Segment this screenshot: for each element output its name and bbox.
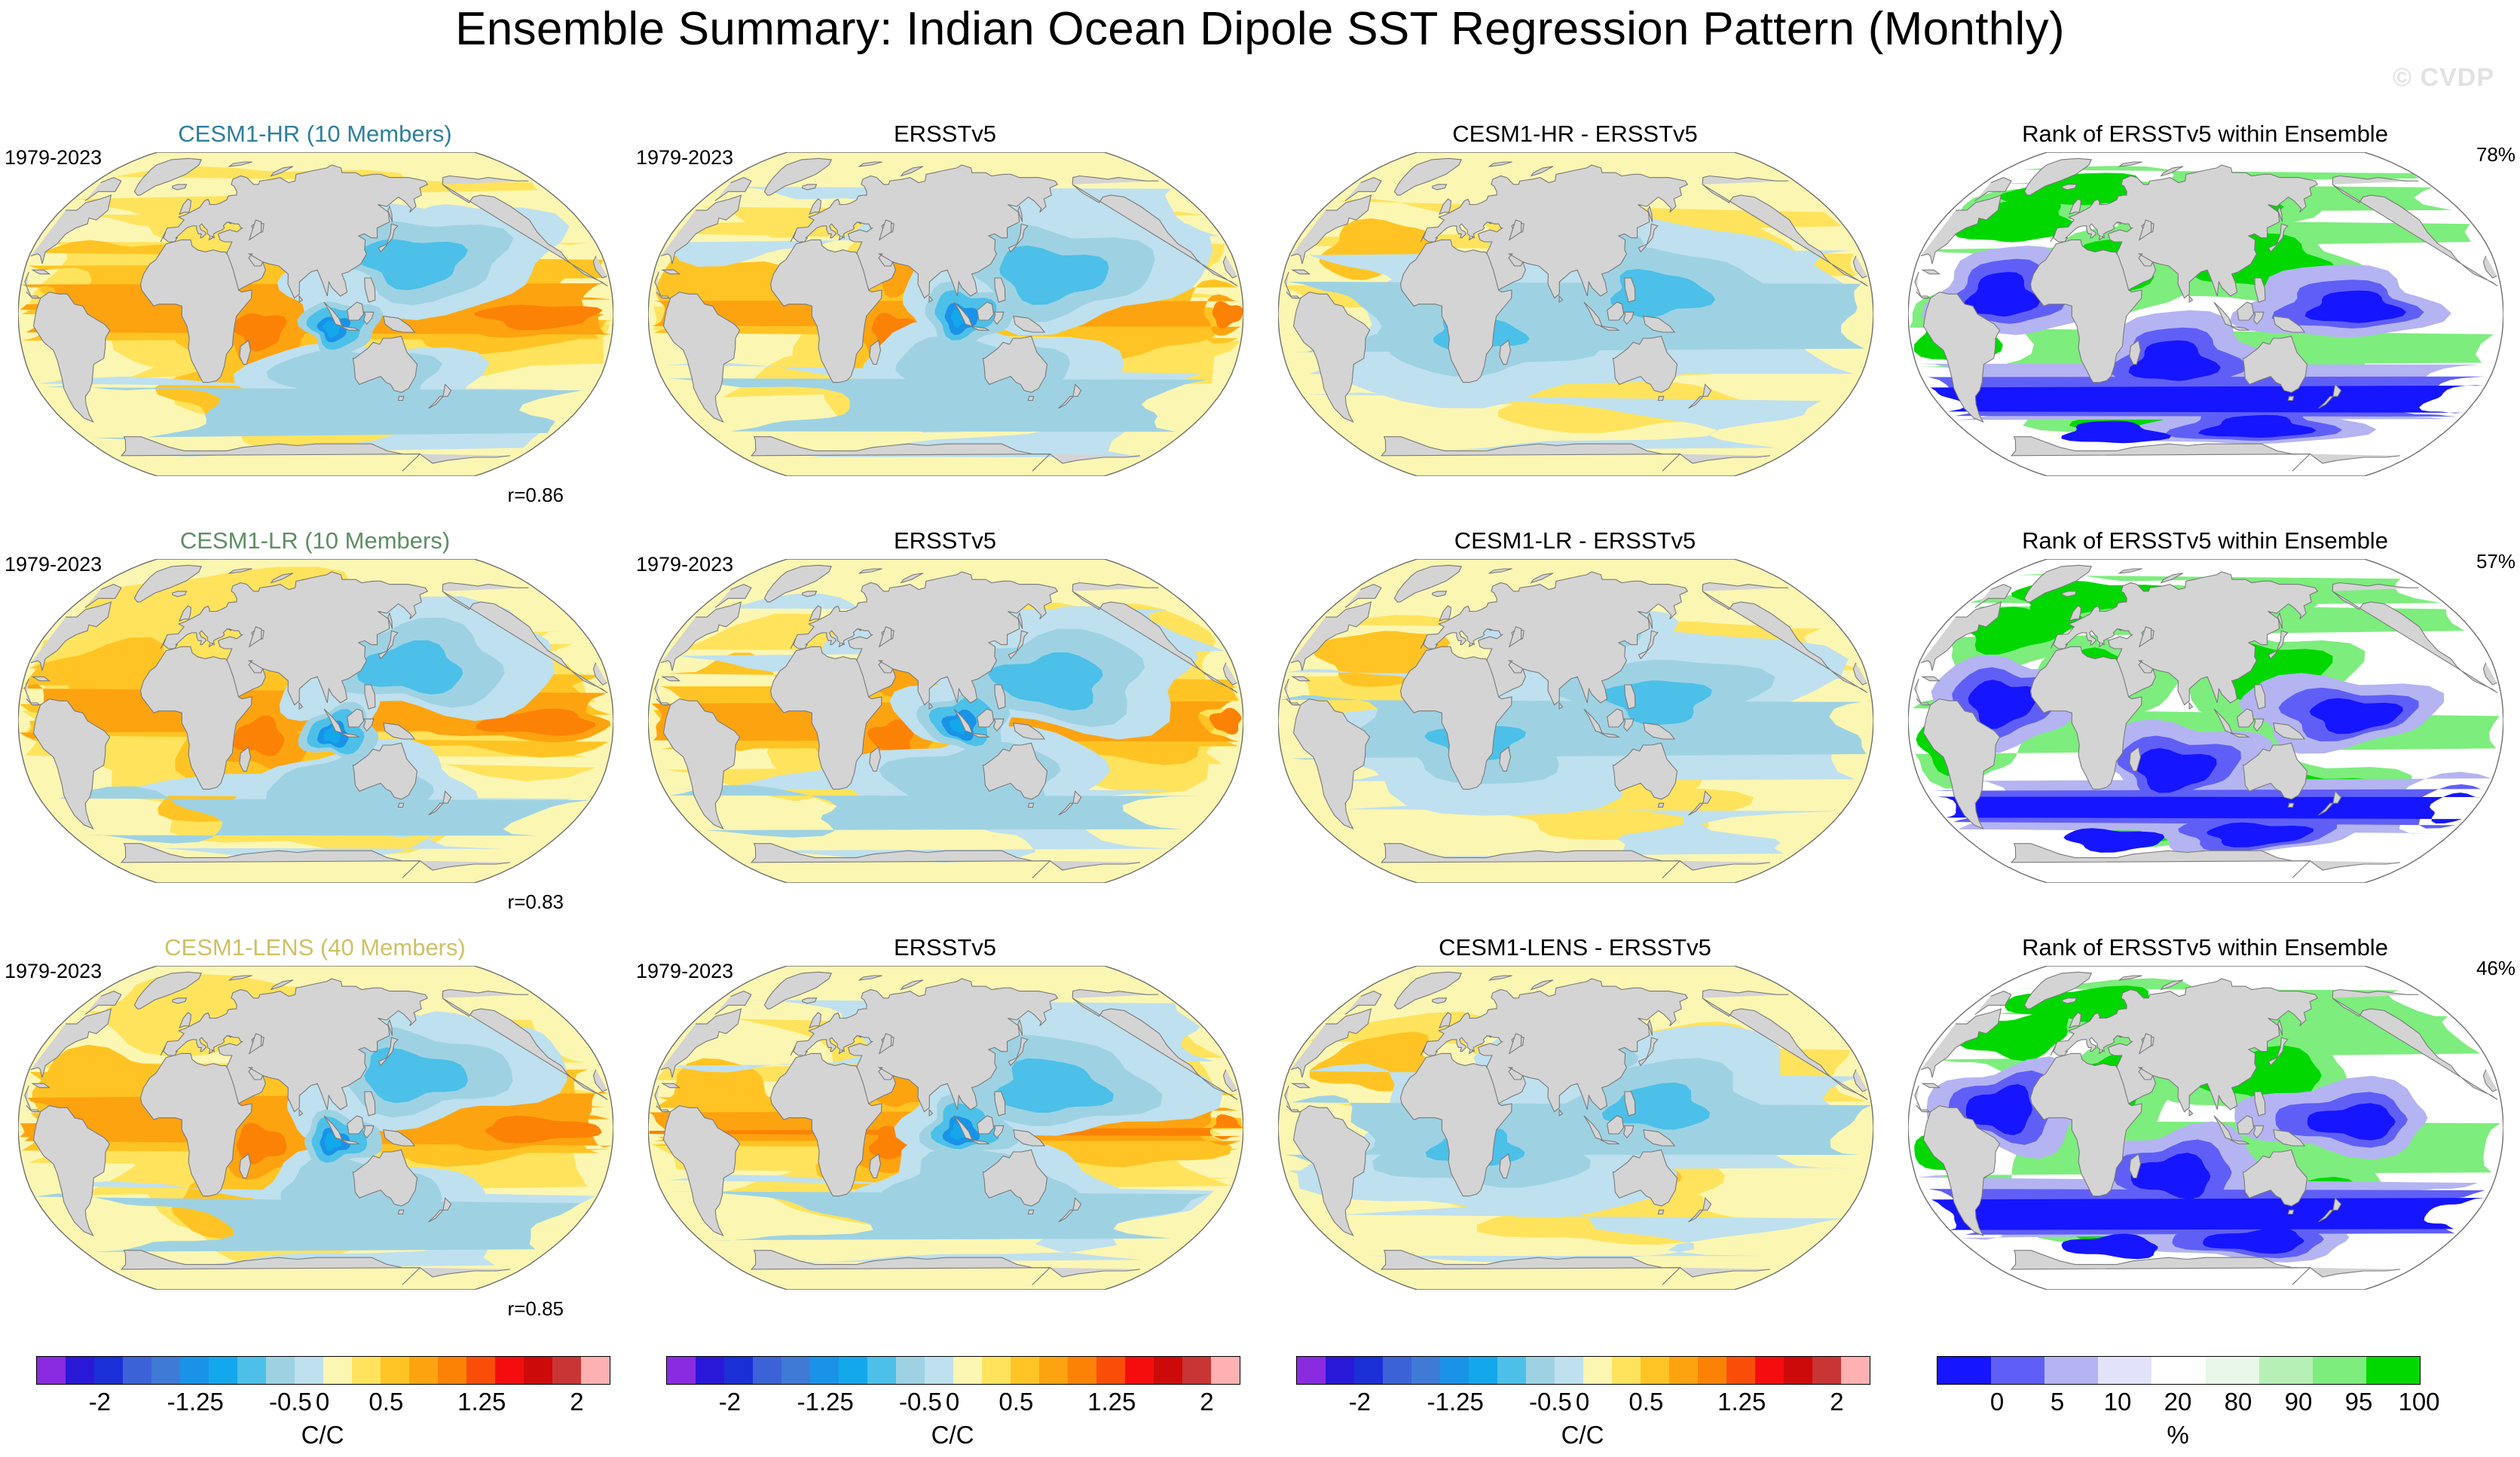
colorbar-swatch-0 (1937, 1357, 1991, 1384)
colorbar-tick: -0.5 (269, 1388, 312, 1416)
colorbar-swatch-11 (982, 1357, 1011, 1384)
sst-colorbar-3: -2-1.25-0.500.51.252C/C (1296, 1356, 1869, 1446)
colorbar-tick: 2 (570, 1388, 583, 1416)
colorbar-swatch-12 (381, 1357, 409, 1384)
colorbar-swatch-17 (1154, 1357, 1182, 1384)
map-observations (648, 559, 1243, 883)
panel-title: Rank of ERSSTv5 within Ensemble (1890, 121, 2520, 148)
colorbar-swatch-0 (1297, 1357, 1326, 1384)
colorbar-swatch-3 (1383, 1357, 1411, 1384)
colorbar-swatch-15 (466, 1357, 495, 1384)
colorbar-swatch-4 (2151, 1357, 2205, 1384)
colorbar-swatch-2 (2044, 1357, 2098, 1384)
colorbar-tick: 2 (1200, 1388, 1213, 1416)
colorbar-swatch-18 (1182, 1357, 1211, 1384)
panel-model-row3: CESM1-LENS (40 Members)1979-2023r=0.85 (0, 934, 630, 1311)
colorbar-tick: 0 (946, 1388, 959, 1416)
colorbar-swatch-1 (1326, 1357, 1354, 1384)
panel-title: Rank of ERSSTv5 within Ensemble (1890, 934, 2520, 961)
pattern-correlation-label: r=0.86 (508, 484, 564, 507)
colorbar-tick: 2 (1830, 1388, 1843, 1416)
colorbar-swatch-8 (896, 1357, 925, 1384)
panel-model-row1: CESM1-HR (10 Members)1979-2023r=0.86 (0, 121, 630, 497)
panel-title: CESM1-HR - ERSSTv5 (1260, 121, 1890, 148)
colorbar-swatch-10 (323, 1357, 352, 1384)
colorbar-swatch-5 (810, 1357, 839, 1384)
colorbar-swatch-19 (1841, 1357, 1870, 1384)
colorbar-swatch-7 (237, 1357, 266, 1384)
colorbar-swatch-15 (1726, 1357, 1755, 1384)
map-difference (1278, 966, 1873, 1290)
colorbar-swatch-10 (1583, 1357, 1612, 1384)
colorbar-tick: -1.25 (167, 1388, 224, 1416)
colorbar-unit-label: % (1937, 1421, 2419, 1449)
map-rank (1908, 559, 2503, 883)
panel-title: CESM1-LENS - ERSSTv5 (1260, 934, 1890, 961)
colorbar-swatch-14 (1698, 1357, 1726, 1384)
colorbar-swatch-6 (1469, 1357, 1497, 1384)
map-model (18, 152, 613, 476)
map-observations (648, 966, 1243, 1290)
colorbar-tick: -2 (1349, 1388, 1371, 1416)
pattern-correlation-label: r=0.85 (508, 1297, 564, 1321)
sst-colorbar-1: -2-1.25-0.500.51.252C/C (36, 1356, 609, 1446)
colorbar-swatch-9 (295, 1357, 323, 1384)
colorbar-swatch-3 (2098, 1357, 2151, 1384)
colorbar-swatch-2 (1354, 1357, 1383, 1384)
colorbar-swatch-14 (438, 1357, 466, 1384)
colorbar-unit-label: C/C (36, 1421, 609, 1449)
map-rank (1908, 152, 2503, 476)
colorbar-swatch-17 (524, 1357, 552, 1384)
colorbar-swatch-0 (37, 1357, 66, 1384)
panel-model-row2: CESM1-LR (10 Members)1979-2023r=0.83 (0, 527, 630, 904)
colorbar-swatch-7 (867, 1357, 896, 1384)
map-observations (648, 152, 1243, 476)
colorbar-unit-label: C/C (666, 1421, 1239, 1449)
colorbar-tick: -1.25 (1427, 1388, 1484, 1416)
colorbar-tick: -2 (719, 1388, 741, 1416)
colorbar-swatch-6 (2259, 1357, 2313, 1384)
map-difference (1278, 559, 1873, 883)
colorbar-swatch-16 (1755, 1357, 1784, 1384)
colorbar-tick: 0 (1990, 1388, 2004, 1416)
map-rank (1908, 966, 2503, 1290)
colorbar-swatch-4 (1411, 1357, 1440, 1384)
colorbar-swatch-17 (1784, 1357, 1812, 1384)
colorbar-tick: 10 (2104, 1388, 2132, 1416)
panel-title: ERSSTv5 (630, 527, 1260, 554)
colorbar-swatch-1 (696, 1357, 724, 1384)
colorbar-tick: 0 (1576, 1388, 1589, 1416)
colorbar-tick-labels: 051020809095100 (1937, 1388, 2419, 1421)
colorbar-swatch-2 (94, 1357, 123, 1384)
cvdp-watermark: © CVDP (2393, 63, 2494, 93)
panel-title: CESM1-LR - ERSSTv5 (1260, 527, 1890, 554)
colorbar-tick-labels: -2-1.25-0.500.51.252 (36, 1388, 609, 1421)
colorbar-swatch-19 (581, 1357, 610, 1384)
colorbar-swatch-3 (753, 1357, 781, 1384)
rank-colorbar: 051020809095100% (1937, 1356, 2419, 1446)
colorbar-swatch-2 (724, 1357, 753, 1384)
colorbar-swatch-16 (1125, 1357, 1154, 1384)
map-model (18, 966, 613, 1290)
colorbar-unit-label: C/C (1296, 1421, 1869, 1449)
colorbar-swatch-8 (266, 1357, 295, 1384)
colorbar-tick: -1.25 (797, 1388, 854, 1416)
colorbar-strip (36, 1356, 610, 1385)
colorbar-swatch-14 (1068, 1357, 1096, 1384)
colorbar-swatch-11 (1612, 1357, 1641, 1384)
colorbar-swatch-9 (1555, 1357, 1583, 1384)
colorbar-swatch-16 (495, 1357, 524, 1384)
colorbar-tick-labels: -2-1.25-0.500.51.252 (666, 1388, 1239, 1421)
page-title: Ensemble Summary: Indian Ocean Dipole SS… (0, 5, 2520, 53)
colorbar-tick: 0.5 (999, 1388, 1033, 1416)
panel-rank-row3: Rank of ERSSTv5 within Ensemble46% (1890, 934, 2520, 1311)
colorbar-swatch-6 (839, 1357, 867, 1384)
colorbar-swatch-5 (1440, 1357, 1469, 1384)
colorbar-swatch-13 (1669, 1357, 1698, 1384)
colorbar-tick: 0.5 (369, 1388, 403, 1416)
colorbar-swatch-12 (1011, 1357, 1039, 1384)
colorbar-swatch-1 (66, 1357, 94, 1384)
colorbar-tick: 5 (2051, 1388, 2064, 1416)
panel-title: ERSSTv5 (630, 121, 1260, 148)
colorbar-swatch-1 (1991, 1357, 2044, 1384)
colorbar-tick: -0.5 (899, 1388, 942, 1416)
colorbar-swatch-9 (925, 1357, 953, 1384)
colorbar-tick: -2 (89, 1388, 111, 1416)
colorbar-tick: 0 (316, 1388, 329, 1416)
colorbar-swatch-10 (953, 1357, 982, 1384)
panel-title: Rank of ERSSTv5 within Ensemble (1890, 527, 2520, 554)
colorbar-strip (666, 1356, 1240, 1385)
panel-observations-row2: ERSSTv51979-2023 (630, 527, 1260, 904)
colorbar-swatch-8 (1526, 1357, 1555, 1384)
colorbar-tick: -0.5 (1529, 1388, 1572, 1416)
colorbar-tick: 95 (2345, 1388, 2373, 1416)
panel-title: CESM1-LR (10 Members) (0, 527, 630, 554)
colorbar-swatch-4 (781, 1357, 810, 1384)
colorbar-swatch-3 (123, 1357, 151, 1384)
colorbar-swatch-18 (1812, 1357, 1841, 1384)
colorbar-strip (1296, 1356, 1870, 1385)
colorbar-swatch-0 (667, 1357, 696, 1384)
panel-title: ERSSTv5 (630, 934, 1260, 961)
colorbar-tick: 0.5 (1629, 1388, 1663, 1416)
panel-difference-row3: CESM1-LENS - ERSSTv5 (1260, 934, 1890, 1311)
colorbar-tick: 100 (2398, 1388, 2439, 1416)
colorbar-tick: 1.25 (457, 1388, 506, 1416)
panel-title: CESM1-HR (10 Members) (0, 121, 630, 148)
panel-rank-row1: Rank of ERSSTv5 within Ensemble78% (1890, 121, 2520, 497)
colorbar-tick: 90 (2285, 1388, 2313, 1416)
pattern-correlation-label: r=0.83 (508, 890, 564, 914)
colorbar-swatch-19 (1211, 1357, 1240, 1384)
colorbar-tick: 20 (2164, 1388, 2192, 1416)
panel-observations-row3: ERSSTv51979-2023 (630, 934, 1260, 1311)
colorbar-swatch-11 (352, 1357, 381, 1384)
panel-rank-row2: Rank of ERSSTv5 within Ensemble57% (1890, 527, 2520, 904)
colorbar-swatch-4 (151, 1357, 180, 1384)
map-difference (1278, 152, 1873, 476)
colorbar-swatch-7 (1497, 1357, 1526, 1384)
panel-observations-row1: ERSSTv51979-2023 (630, 121, 1260, 497)
colorbar-tick: 1.25 (1717, 1388, 1766, 1416)
map-model (18, 559, 613, 883)
colorbar-swatch-8 (2366, 1357, 2420, 1384)
colorbar-tick: 80 (2225, 1388, 2252, 1416)
panel-title: CESM1-LENS (40 Members) (0, 934, 630, 961)
colorbar-swatch-6 (209, 1357, 237, 1384)
colorbar-swatch-18 (552, 1357, 581, 1384)
colorbar-swatch-12 (1641, 1357, 1669, 1384)
colorbar-swatch-5 (180, 1357, 209, 1384)
sst-colorbar-2: -2-1.25-0.500.51.252C/C (666, 1356, 1239, 1446)
panel-difference-row2: CESM1-LR - ERSSTv5 (1260, 527, 1890, 904)
panel-difference-row1: CESM1-HR - ERSSTv5 (1260, 121, 1890, 497)
colorbar-swatch-7 (2313, 1357, 2366, 1384)
colorbar-tick-labels: -2-1.25-0.500.51.252 (1296, 1388, 1869, 1421)
colorbar-tick: 1.25 (1087, 1388, 1136, 1416)
colorbar-swatch-13 (1039, 1357, 1068, 1384)
colorbar-swatch-13 (409, 1357, 438, 1384)
colorbar-swatch-15 (1096, 1357, 1125, 1384)
colorbar-strip (1937, 1356, 2421, 1385)
colorbar-swatch-5 (2206, 1357, 2259, 1384)
